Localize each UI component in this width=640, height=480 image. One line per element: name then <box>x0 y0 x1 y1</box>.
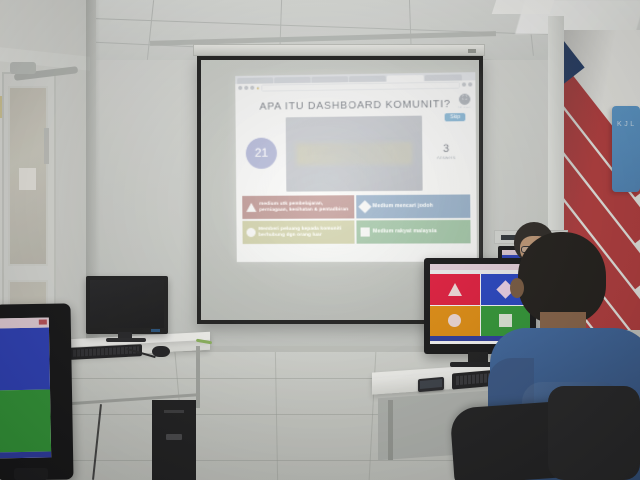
quiz-page: ⛶ Full screen APA ITU DASHBOARD KOMUNITI… <box>235 88 477 262</box>
answer-count-label: Answers <box>431 155 462 160</box>
square-icon <box>361 227 370 236</box>
triangle-icon <box>448 283 462 296</box>
browser-titlebar <box>0 318 49 329</box>
power-button[interactable] <box>166 434 182 440</box>
wall-sign-text: K J L <box>612 106 640 130</box>
browser-tab[interactable] <box>312 76 349 83</box>
question-title: APA ITU DASHBOARD KOMUNITI? <box>241 98 469 113</box>
classroom-scene: K J L 🔒 <box>0 0 640 480</box>
answer-option-blue[interactable]: Medium mencari jodoh <box>356 194 470 218</box>
monitor-power-led <box>151 329 160 332</box>
ear <box>510 278 524 298</box>
star-icon[interactable] <box>462 82 466 86</box>
back-icon[interactable] <box>238 86 242 90</box>
door-handle[interactable] <box>44 128 49 164</box>
optical-drive[interactable] <box>164 410 184 413</box>
forward-icon[interactable] <box>244 86 248 90</box>
screen-housing <box>193 44 485 56</box>
skip-button[interactable]: Skip <box>445 113 465 121</box>
answer-pad-orange[interactable] <box>430 306 480 337</box>
desktop-tower-left <box>152 400 196 480</box>
answer-pad-red[interactable] <box>430 274 480 305</box>
answer-pad-blue[interactable] <box>0 328 50 391</box>
answer-option-text: Medium rakyat malaysia <box>373 229 437 235</box>
door-closer-body <box>10 62 36 74</box>
smartphone[interactable] <box>418 377 444 392</box>
answer-pad-green[interactable] <box>0 389 51 452</box>
answer-option-red[interactable]: medium utk pembelajaran, perniagaan, kes… <box>242 195 354 219</box>
monitor-foreground-left-screen <box>0 318 51 459</box>
diamond-icon <box>358 200 371 213</box>
circle-icon <box>247 228 256 237</box>
lock-icon: 🔒 <box>256 86 259 89</box>
desk-leg <box>388 400 393 460</box>
head <box>518 232 606 324</box>
answer-counter: 3 Answers <box>430 144 461 161</box>
circle-icon <box>448 314 461 327</box>
desk-leg <box>196 346 200 408</box>
reload-icon[interactable] <box>250 86 254 90</box>
projected-browser-window: 🔒 ⛶ Full screen APA ITU DASHBOARD KOMUNI… <box>235 72 477 262</box>
wall-sign: K J L <box>612 106 640 192</box>
triangle-icon <box>246 203 256 212</box>
browser-tab[interactable] <box>274 77 310 84</box>
fullscreen-label: Full screen <box>454 106 475 109</box>
chair-right[interactable] <box>548 386 640 480</box>
close-icon[interactable] <box>39 320 47 325</box>
ceiling-grid-line <box>147 0 154 60</box>
question-media-row: 21 Skip 3 Answers <box>242 113 471 194</box>
answer-option-yellow[interactable]: Memberi peluang kepada komuniti berhubun… <box>242 220 354 244</box>
monitor-foreground-left-base <box>14 468 48 480</box>
answer-count-value: 3 <box>430 144 461 155</box>
question-image-content <box>296 142 412 165</box>
answer-options: medium utk pembelajaran, perniagaan, kes… <box>242 194 470 244</box>
door-notice <box>19 168 36 190</box>
menu-icon[interactable] <box>468 82 472 86</box>
browser-tab[interactable] <box>425 74 462 81</box>
answer-option-text: medium utk pembelajaran, perniagaan, kes… <box>259 201 350 213</box>
browser-tab[interactable] <box>237 77 273 84</box>
answer-pad-footer <box>0 451 51 458</box>
question-image <box>286 116 423 192</box>
monitor-left <box>86 276 168 334</box>
countdown-timer: 21 <box>246 138 277 169</box>
browser-tab-active[interactable] <box>387 75 424 82</box>
answer-option-text: Memberi peluang kepada komuniti berhubun… <box>259 226 351 238</box>
ceiling-light <box>492 0 555 14</box>
answer-option-green[interactable]: Medium rakyat malaysia <box>356 220 470 244</box>
answer-option-text: Medium mencari jodoh <box>373 204 433 210</box>
fullscreen-icon[interactable]: ⛶ <box>459 94 470 105</box>
browser-tab[interactable] <box>349 76 386 83</box>
monitor-base <box>106 338 146 342</box>
